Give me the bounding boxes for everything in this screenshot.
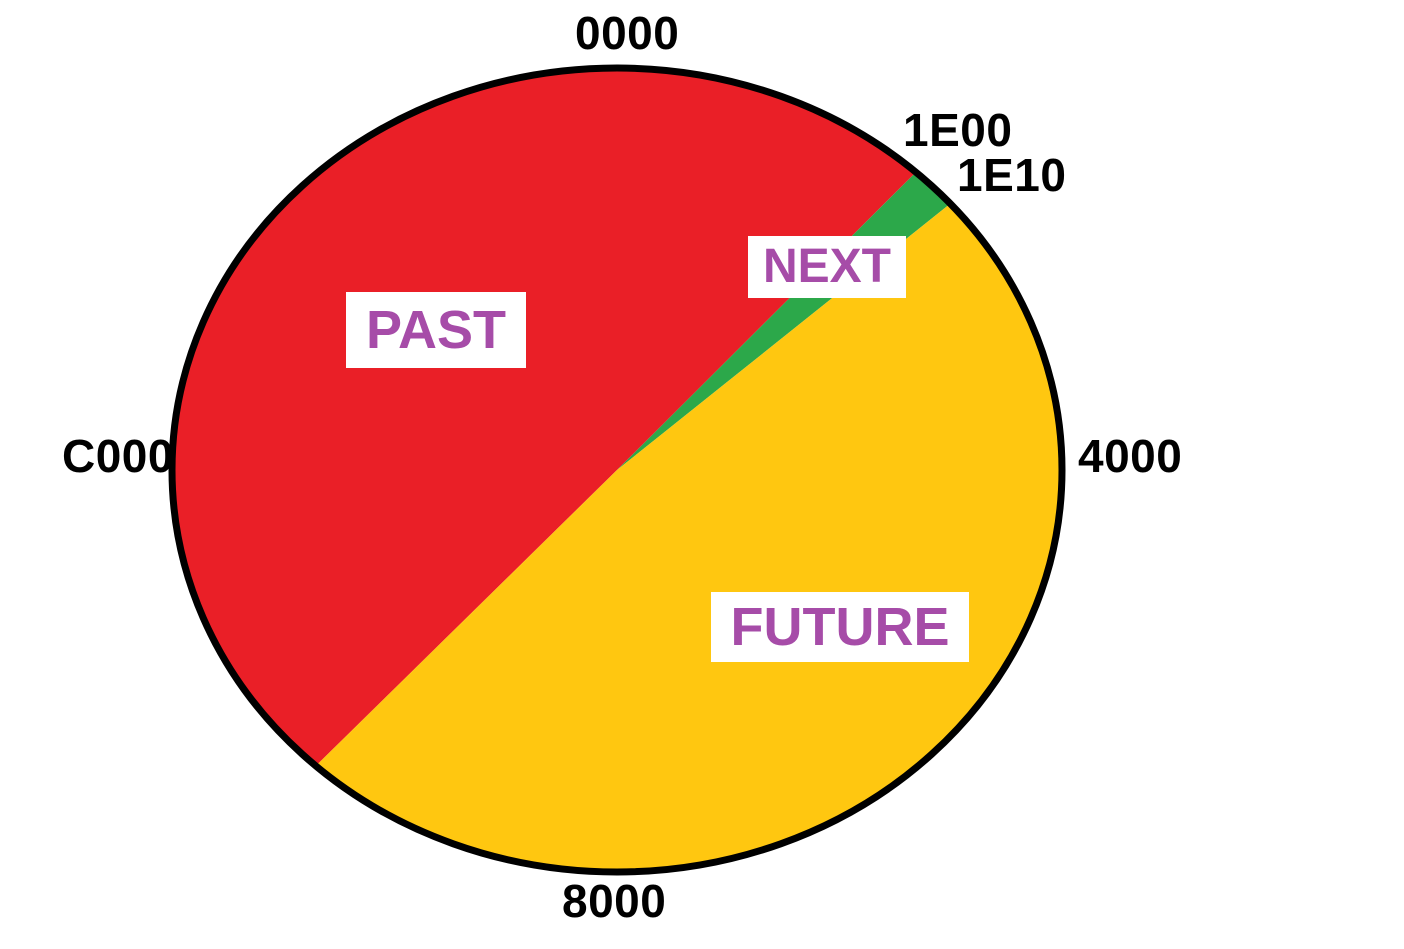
- tick-label-0000: 0000: [575, 10, 679, 56]
- tick-label-4000: 4000: [1078, 433, 1182, 479]
- tick-label-C000: C000: [62, 433, 174, 479]
- tick-label-1E10: 1E10: [957, 152, 1066, 198]
- slice-label-next: NEXT: [748, 236, 906, 298]
- slice-label-past: PAST: [346, 292, 526, 368]
- figure-canvas: 0000 1E00 1E10 4000 8000 C000 PAST NEXT …: [0, 0, 1404, 949]
- pie-chart: [0, 0, 1404, 949]
- pie-slices: [172, 68, 1062, 872]
- tick-label-1E00: 1E00: [903, 107, 1012, 153]
- tick-label-8000: 8000: [562, 878, 666, 924]
- slice-label-future: FUTURE: [711, 592, 969, 662]
